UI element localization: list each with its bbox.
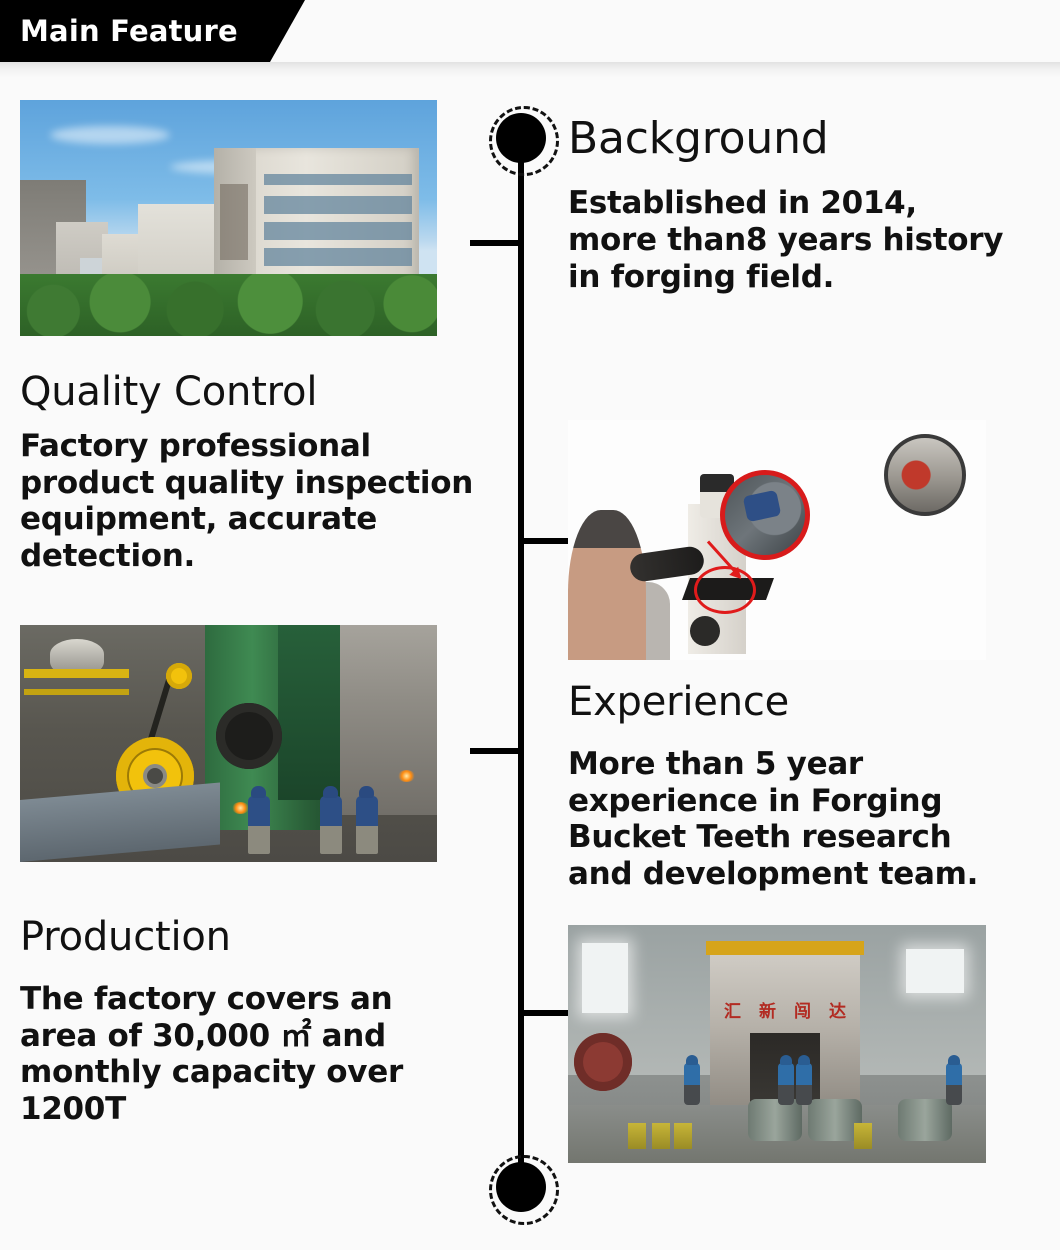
feature-heading-background: Background xyxy=(568,115,1038,163)
conveyor-rail xyxy=(20,783,220,862)
callout-inset-furnace xyxy=(884,434,966,516)
feature-block-background: Background Established in 2014, more tha… xyxy=(568,115,1038,295)
hot-billet-glow xyxy=(398,770,415,782)
timeline-node-bottom-icon xyxy=(496,1162,546,1212)
worker-figure xyxy=(946,1063,962,1105)
yellow-safety-rail xyxy=(706,941,864,955)
timeline-tick-production xyxy=(518,1010,572,1016)
timeline-spine xyxy=(518,138,524,1186)
machine-brand-char: 新 xyxy=(759,997,776,1022)
technician-head xyxy=(568,510,646,660)
header-banner: Main Feature xyxy=(0,0,305,62)
worker-figure xyxy=(320,796,342,854)
floor-fan-drum xyxy=(898,1099,952,1141)
timeline-tick-quality-control xyxy=(518,538,572,544)
forging-press-photo xyxy=(20,625,437,862)
worker-figure xyxy=(778,1063,794,1105)
worker-figure xyxy=(248,796,270,854)
black-flywheel xyxy=(216,703,282,769)
cloud-shape xyxy=(50,126,170,144)
callout-inset-bucket-tooth xyxy=(720,470,810,560)
feature-body-experience: More than 5 year experience in Forging B… xyxy=(568,746,1038,892)
press-brick-wall xyxy=(337,625,437,815)
feature-block-quality-control: Quality Control Factory professional pro… xyxy=(20,370,490,574)
feature-heading-quality-control: Quality Control xyxy=(20,370,490,414)
machine-brand-char: 闯 xyxy=(794,997,811,1022)
machine-brand-char: 汇 xyxy=(724,997,741,1022)
feature-heading-production: Production xyxy=(20,915,490,959)
feature-body-background: Established in 2014, more than8 years hi… xyxy=(568,185,1038,295)
callout-highlight-ring xyxy=(694,566,756,614)
office-building-photo xyxy=(20,100,437,336)
small-yellow-pulley xyxy=(166,663,192,689)
oil-barrel xyxy=(628,1123,646,1149)
microscope-focus-knob xyxy=(690,616,720,646)
timeline-tick-experience xyxy=(470,748,524,754)
press-frame-green-dark xyxy=(278,625,340,800)
worker-figure xyxy=(356,796,378,854)
tree-canopy xyxy=(20,274,437,336)
oil-barrel xyxy=(854,1123,872,1149)
header-banner-wrap: Main Feature xyxy=(0,0,1060,70)
hot-billet-glow xyxy=(232,802,249,814)
timeline-node-top-icon xyxy=(496,113,546,163)
floor-fan-drum xyxy=(748,1099,802,1141)
worker-figure xyxy=(796,1063,812,1105)
page-title: Main Feature xyxy=(0,17,238,46)
machine-brand-label: 汇 新 闯 达 xyxy=(724,997,846,1022)
machine-brand-char: 达 xyxy=(829,997,846,1022)
worker-figure xyxy=(684,1063,700,1105)
oil-barrel xyxy=(674,1123,692,1149)
workshop-hammer-photo: 汇 新 闯 达 xyxy=(568,925,986,1163)
banner-shadow xyxy=(0,62,1060,78)
yellow-catwalk-lower xyxy=(24,689,129,695)
feature-body-quality-control: Factory professional product quality ins… xyxy=(20,428,490,574)
inspection-equipment-photo xyxy=(568,420,986,660)
oil-barrel xyxy=(652,1123,670,1149)
feature-body-production: The factory covers an area of 30,000 ㎡ a… xyxy=(20,981,490,1127)
yellow-catwalk xyxy=(24,669,129,678)
feature-block-production: Production The factory covers an area of… xyxy=(20,915,490,1127)
feature-block-experience: Experience More than 5 year experience i… xyxy=(568,680,1038,892)
red-flywheel xyxy=(574,1033,632,1091)
feature-heading-experience: Experience xyxy=(568,680,1038,724)
timeline-tick-background xyxy=(470,240,524,246)
workshop-window xyxy=(582,943,628,1013)
workshop-window xyxy=(906,949,964,993)
